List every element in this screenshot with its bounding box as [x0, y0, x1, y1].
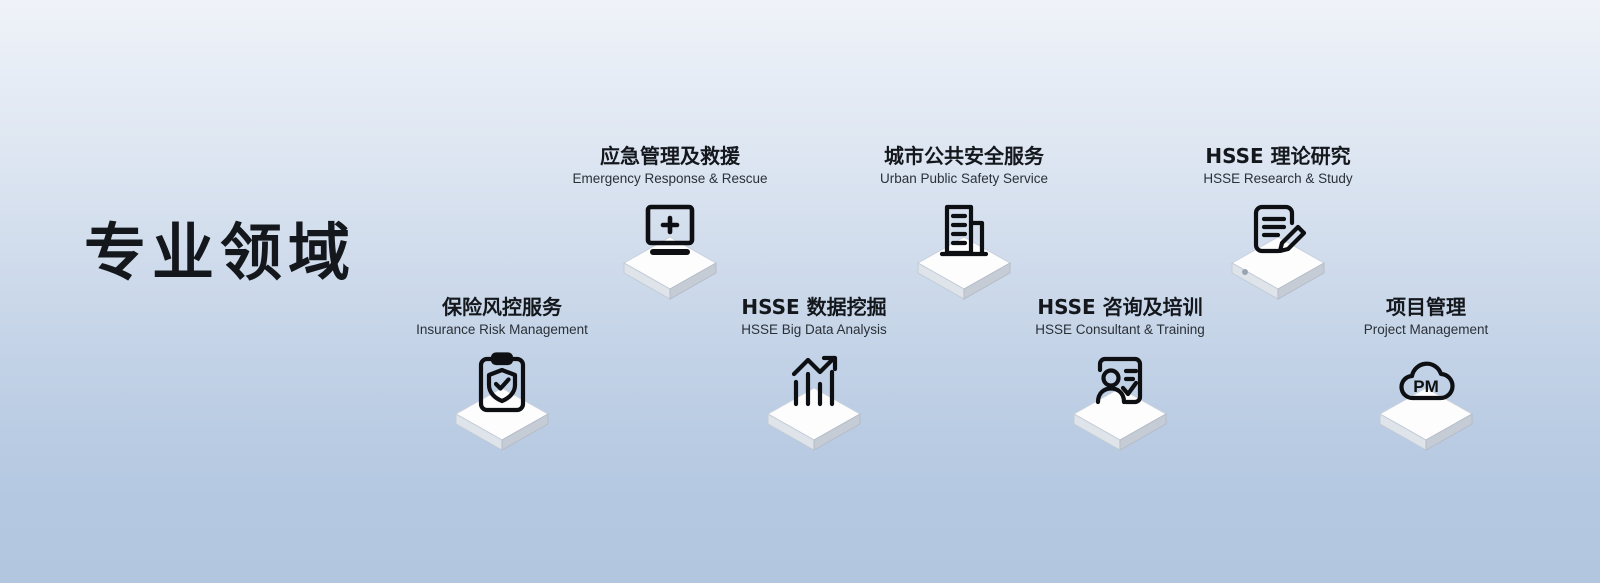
- domain-subtitle: Project Management: [1276, 322, 1576, 338]
- domain-item-emergency-response-rescue[interactable]: 应急管理及救援 Emergency Response & Rescue: [520, 145, 820, 307]
- domain-artwork: [664, 346, 964, 458]
- domain-artwork: [352, 346, 652, 458]
- domain-title: 城市公共安全服务: [814, 145, 1114, 167]
- domain-subtitle: Emergency Response & Rescue: [520, 171, 820, 187]
- domain-title: HSSE 理论研究: [1128, 145, 1428, 167]
- page-title: 专业领域: [84, 222, 356, 284]
- professional-domains-banner: 专业领域 保险风控服务 Insurance Risk Management: [0, 0, 1600, 583]
- domain-item-hsse-consultant-training[interactable]: HSSE 咨询及培训 HSSE Consultant & Training: [970, 296, 1270, 458]
- domain-subtitle: Insurance Risk Management: [352, 322, 652, 338]
- monitor-medical-plus-icon: [640, 201, 700, 263]
- domain-item-project-management[interactable]: 项目管理 Project Management PM: [1276, 296, 1576, 458]
- office-building-icon: [934, 201, 994, 263]
- domain-subtitle: HSSE Big Data Analysis: [664, 322, 964, 338]
- domain-item-hsse-big-data-analysis[interactable]: HSSE 数据挖掘 HSSE Big Data Analysis: [664, 296, 964, 458]
- cloud-pm-icon: PM: [1396, 352, 1456, 414]
- person-id-card-check-icon: [1090, 352, 1150, 414]
- domain-item-urban-public-safety-service[interactable]: 城市公共安全服务 Urban Public Safety Service: [814, 145, 1114, 307]
- domain-artwork: [520, 195, 820, 307]
- domain-item-hsse-research-study[interactable]: HSSE 理论研究 HSSE Research & Study: [1128, 145, 1428, 307]
- domain-subtitle: Urban Public Safety Service: [814, 171, 1114, 187]
- cloud-pm-label: PM: [1413, 377, 1439, 396]
- domain-title: 应急管理及救援: [520, 145, 820, 167]
- bar-chart-trend-arrow-icon: [784, 352, 844, 414]
- clipboard-shield-check-icon: [472, 352, 532, 414]
- document-pencil-icon: [1248, 201, 1308, 263]
- domain-title: 项目管理: [1276, 296, 1576, 318]
- domain-artwork: [970, 346, 1270, 458]
- domain-artwork: PM: [1276, 346, 1576, 458]
- domain-item-insurance-risk-management[interactable]: 保险风控服务 Insurance Risk Management: [352, 296, 652, 458]
- domain-artwork: [1128, 195, 1428, 307]
- domain-subtitle: HSSE Research & Study: [1128, 171, 1428, 187]
- domain-subtitle: HSSE Consultant & Training: [970, 322, 1270, 338]
- domain-artwork: [814, 195, 1114, 307]
